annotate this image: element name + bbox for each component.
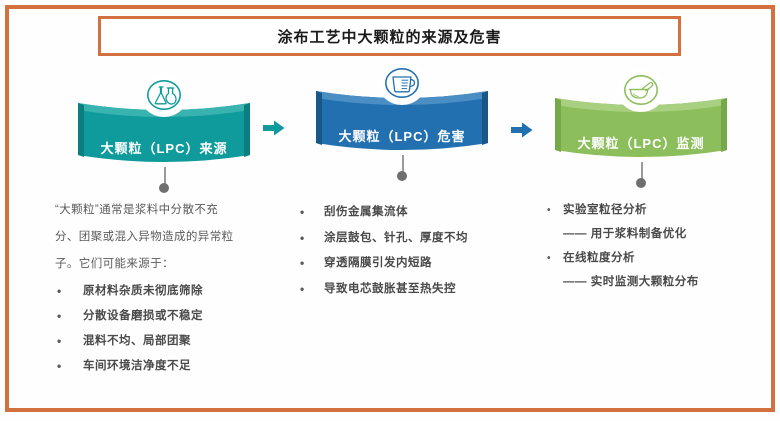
list-item-label: 导致电芯鼓胀甚至热失控	[324, 283, 456, 295]
list-item: •分散设备磨损或不稳定	[55, 304, 305, 329]
arrow-source-to-harm	[262, 118, 286, 138]
list-item-label: 在线粒度分析	[563, 252, 635, 264]
title-box: 涂布工艺中大颗粒的来源及危害	[98, 16, 681, 56]
bullet-icon: •	[57, 304, 62, 329]
source-paragraph-line-2: 分、团聚或混入异物造成的异常粒	[55, 225, 305, 250]
stage-label-source: 大颗粒（LPC）来源	[78, 138, 250, 157]
source-paragraph-line-3: 子。它们可能来源于：	[55, 252, 305, 277]
stage-banner-monitor[interactable]: 大颗粒（LPC）监测	[555, 90, 727, 162]
list-item-note: —— 用于浆料制备优化	[545, 222, 775, 246]
list-item: •导致电芯鼓胀甚至热失控	[298, 277, 533, 303]
content-column-monitor: •实验室粒径分析 —— 用于浆料制备优化 •在线粒度分析 —— 实时监测大颗粒分…	[545, 198, 775, 294]
stage-banner-harm[interactable]: 大颗粒（LPC）危害	[316, 83, 488, 155]
bullet-icon: •	[300, 226, 305, 251]
content-column-harm: •刮伤金属集流体 •涂层鼓包、针孔、厚度不均 •穿透隔膜引发内短路 •导致电芯鼓…	[298, 200, 533, 302]
source-bullet-list: •原材料杂质未彻底筛除 •分散设备磨损或不稳定 •混料不均、局部团聚 •车间环境…	[55, 279, 305, 379]
list-item: •涂层鼓包、针孔、厚度不均	[298, 226, 533, 252]
list-item: •实验室粒径分析	[545, 198, 775, 222]
list-item: •穿透隔膜引发内短路	[298, 251, 533, 277]
bullet-icon: •	[547, 198, 551, 223]
list-item: •在线粒度分析	[545, 246, 775, 270]
connector-dot	[397, 171, 407, 181]
list-item-label: 车间环境洁净度不足	[83, 360, 191, 372]
connector-stem-source	[159, 167, 171, 193]
infographic-page: 涂布工艺中大颗粒的来源及危害 大颗粒（LPC）来源	[0, 0, 780, 421]
list-item-label: 穿透隔膜引发内短路	[324, 257, 432, 269]
bullet-icon: •	[57, 354, 62, 379]
monitor-bullet-list: •实验室粒径分析 —— 用于浆料制备优化 •在线粒度分析 —— 实时监测大颗粒分…	[545, 198, 775, 294]
page-title: 涂布工艺中大颗粒的来源及危害	[277, 26, 501, 47]
connector-dot	[636, 178, 646, 188]
list-item: •车间环境洁净度不足	[55, 354, 305, 379]
flask-icon	[140, 73, 188, 117]
list-item-label: 混料不均、局部团聚	[83, 335, 191, 347]
bullet-icon: •	[547, 246, 551, 271]
stage-banner-source[interactable]: 大颗粒（LPC）来源	[78, 95, 250, 167]
stage-label-monitor: 大颗粒（LPC）监测	[555, 133, 727, 152]
bullet-icon: •	[57, 279, 62, 304]
content-column-source: “大颗粒”通常是浆料中分散不充 分、团聚或混入异物造成的异常粒 子。它们可能来源…	[55, 198, 305, 379]
arrow-harm-to-monitor	[510, 120, 534, 140]
list-item: •原材料杂质未彻底筛除	[55, 279, 305, 304]
list-item-label: 刮伤金属集流体	[324, 206, 408, 218]
connector-stem-monitor	[636, 162, 648, 188]
connector-stem-harm	[397, 155, 409, 181]
list-item-note: —— 实时监测大颗粒分布	[545, 270, 775, 294]
list-item: •混料不均、局部团聚	[55, 329, 305, 354]
bullet-icon: •	[300, 277, 305, 302]
bullet-icon: •	[300, 251, 305, 276]
connector-dot	[159, 183, 169, 193]
stage-label-harm: 大颗粒（LPC）危害	[316, 126, 488, 145]
list-item-label: 原材料杂质未彻底筛除	[83, 285, 203, 297]
list-item-label: 分散设备磨损或不稳定	[83, 310, 203, 322]
beaker-icon	[378, 61, 426, 105]
list-item-label: 涂层鼓包、针孔、厚度不均	[324, 232, 468, 244]
list-item-label: 实验室粒径分析	[563, 204, 647, 216]
harm-bullet-list: •刮伤金属集流体 •涂层鼓包、针孔、厚度不均 •穿透隔膜引发内短路 •导致电芯鼓…	[298, 200, 533, 302]
source-paragraph-line-1: “大颗粒”通常是浆料中分散不充	[55, 198, 305, 223]
bullet-icon: •	[57, 329, 62, 354]
mortar-pestle-icon	[617, 68, 665, 112]
list-item: •刮伤金属集流体	[298, 200, 533, 226]
bullet-icon: •	[300, 200, 305, 225]
